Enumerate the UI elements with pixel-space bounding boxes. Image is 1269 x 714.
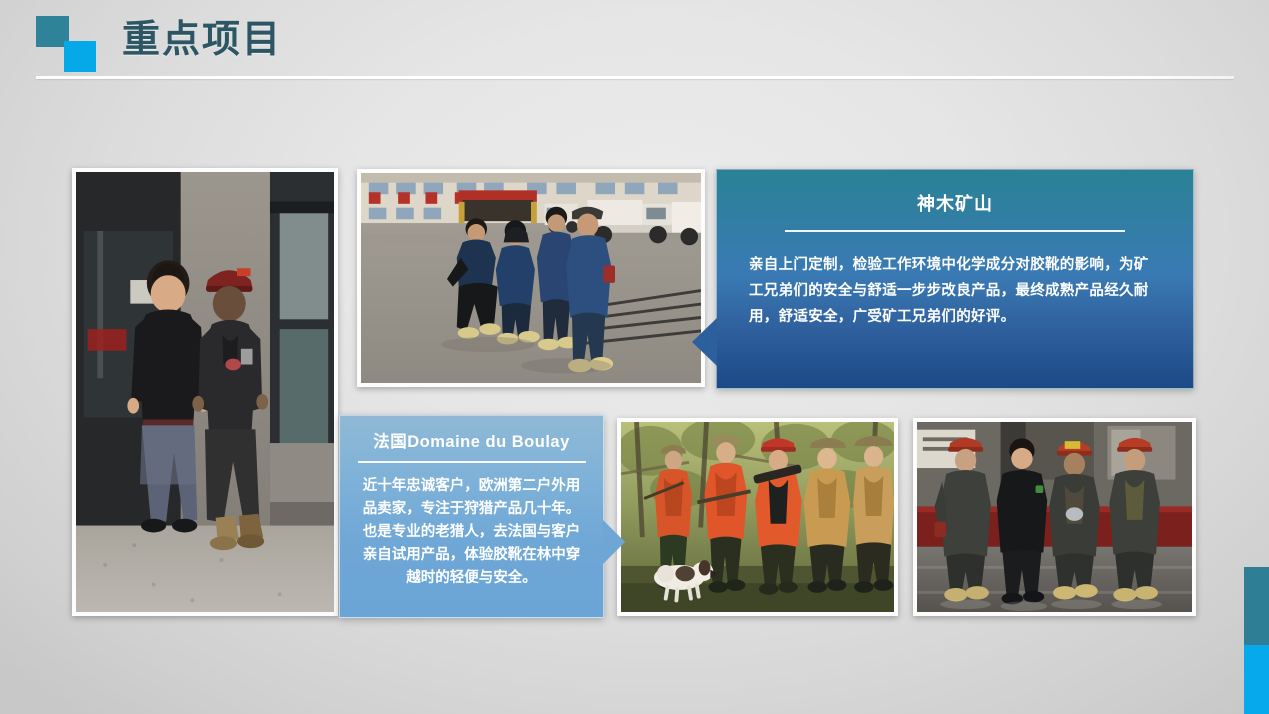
panel-pointer-right-icon xyxy=(603,520,625,564)
header-divider xyxy=(36,76,1234,79)
panel-shenmu-mine: 神木矿山 亲自上门定制，检验工作环境中化学成分对胶靴的影响，为矿工兄弟们的安全与… xyxy=(716,169,1194,389)
photo-hunters xyxy=(617,418,898,616)
photo-yard xyxy=(357,169,705,387)
logo-squares xyxy=(36,16,112,72)
panel-shenmu-mine-body: 亲自上门定制，检验工作环境中化学成分对胶靴的影响，为矿工兄弟们的安全与舒适一步步… xyxy=(749,252,1161,330)
photo-miners-image xyxy=(917,422,1192,612)
accent-bar xyxy=(1244,567,1269,714)
panel-shenmu-mine-title: 神木矿山 xyxy=(717,190,1193,216)
accent-bar-bottom xyxy=(1244,645,1269,714)
panel-domaine-du-boulay-divider xyxy=(358,461,586,463)
panel-domaine-du-boulay: 法国Domaine du Boulay 近十年忠诚客户，欧洲第二户外用品卖家，专… xyxy=(339,415,604,618)
logo-square-bright-icon xyxy=(64,41,96,72)
accent-bar-top xyxy=(1244,567,1269,645)
photo-hunters-image xyxy=(621,422,894,612)
photo-entrance-image xyxy=(76,172,334,612)
panel-domaine-du-boulay-body: 近十年忠诚客户，欧洲第二户外用品卖家，专注于狩猎产品几十年。也是专业的老猎人，去… xyxy=(356,475,587,590)
panel-shenmu-mine-divider xyxy=(785,230,1125,232)
panel-domaine-du-boulay-title: 法国Domaine du Boulay xyxy=(340,428,603,452)
photo-miners xyxy=(913,418,1196,616)
photo-entrance xyxy=(72,168,338,616)
panel-pointer-left-icon xyxy=(692,318,717,366)
page-title: 重点项目 xyxy=(122,17,282,63)
slide: 重点项目 xyxy=(0,0,1269,714)
photo-yard-image xyxy=(361,173,701,383)
